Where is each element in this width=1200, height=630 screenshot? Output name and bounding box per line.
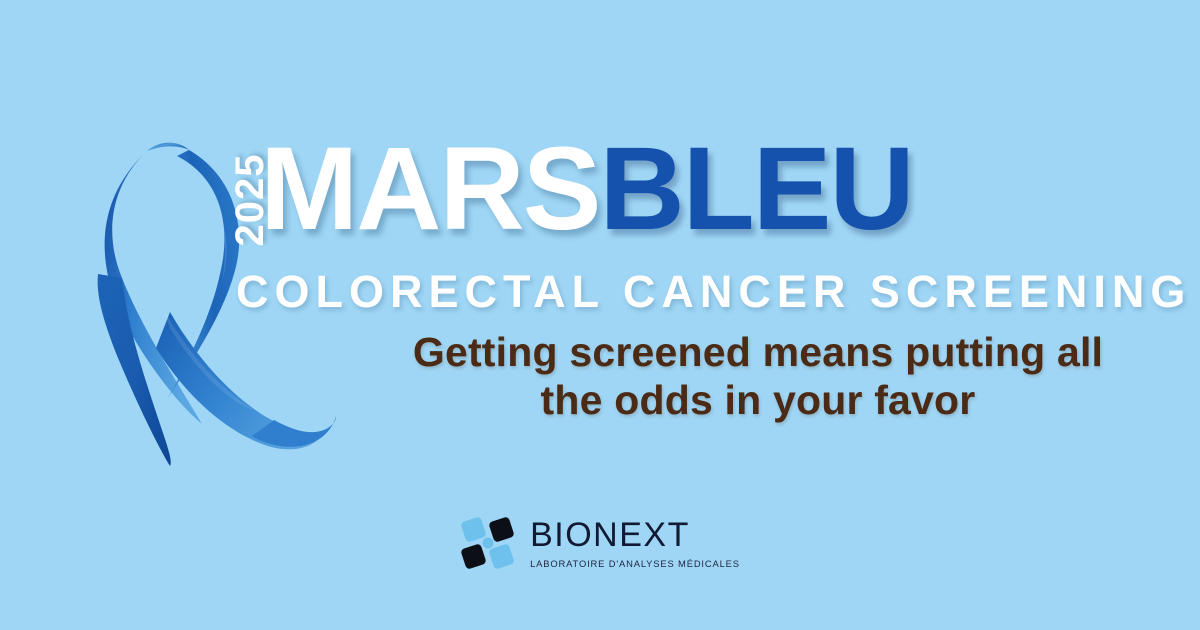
poster-canvas: 2025 MARSBLEU COLORECTAL CANCER SCREENIN… (0, 0, 1200, 630)
bionext-logo: BIONEXT LABORATOIRE D'ANALYSES MÉDICALES (0, 508, 1200, 578)
tagline: Getting screened means putting all the o… (363, 328, 1153, 424)
headline-word-mars: MARS (260, 123, 599, 255)
tagline-line-2: the odds in your favor (363, 376, 1153, 424)
bionext-pinwheel-icon (460, 515, 516, 571)
bionext-wordmark: BIONEXT (530, 518, 690, 552)
subtitle: COLORECTAL CANCER SCREENING (236, 268, 1191, 316)
headline-word-bleu: BLEU (599, 123, 912, 255)
page-title: MARSBLEU (260, 130, 913, 248)
bionext-logo-text: BIONEXT LABORATOIRE D'ANALYSES MÉDICALES (530, 518, 740, 569)
bionext-subtitle: LABORATOIRE D'ANALYSES MÉDICALES (530, 558, 740, 569)
tagline-line-1: Getting screened means putting all (363, 328, 1153, 376)
